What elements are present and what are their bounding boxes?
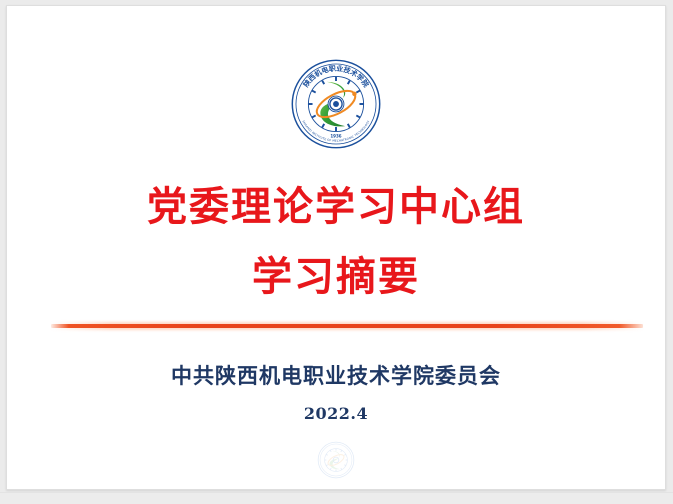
watermark-container: [7, 441, 665, 479]
date-label: 2022.4: [7, 404, 665, 423]
university-crest-icon: 陕西机电职业技术学院 SHAANXI INSTITUTE OF MECHATRO…: [290, 58, 382, 150]
main-title-line-2: 学习摘要: [7, 252, 665, 302]
page-bottom-strip: [0, 492, 673, 504]
main-title-line-1: 党委理论学习中心组: [7, 182, 665, 232]
organization-name: 中共陕西机电职业技术学院委员会: [7, 360, 665, 390]
title-block: 党委理论学习中心组 学习摘要: [7, 182, 665, 301]
horizontal-divider: [51, 324, 643, 328]
crest-container: 陕西机电职业技术学院 SHAANXI INSTITUTE OF MECHATRO…: [7, 58, 665, 150]
slide-root: 陕西机电职业技术学院 SHAANXI INSTITUTE OF MECHATRO…: [0, 0, 673, 504]
slide-page: 陕西机电职业技术学院 SHAANXI INSTITUTE OF MECHATRO…: [6, 5, 666, 490]
university-crest-watermark-icon: [317, 441, 355, 479]
svg-text:1936: 1936: [330, 134, 341, 139]
